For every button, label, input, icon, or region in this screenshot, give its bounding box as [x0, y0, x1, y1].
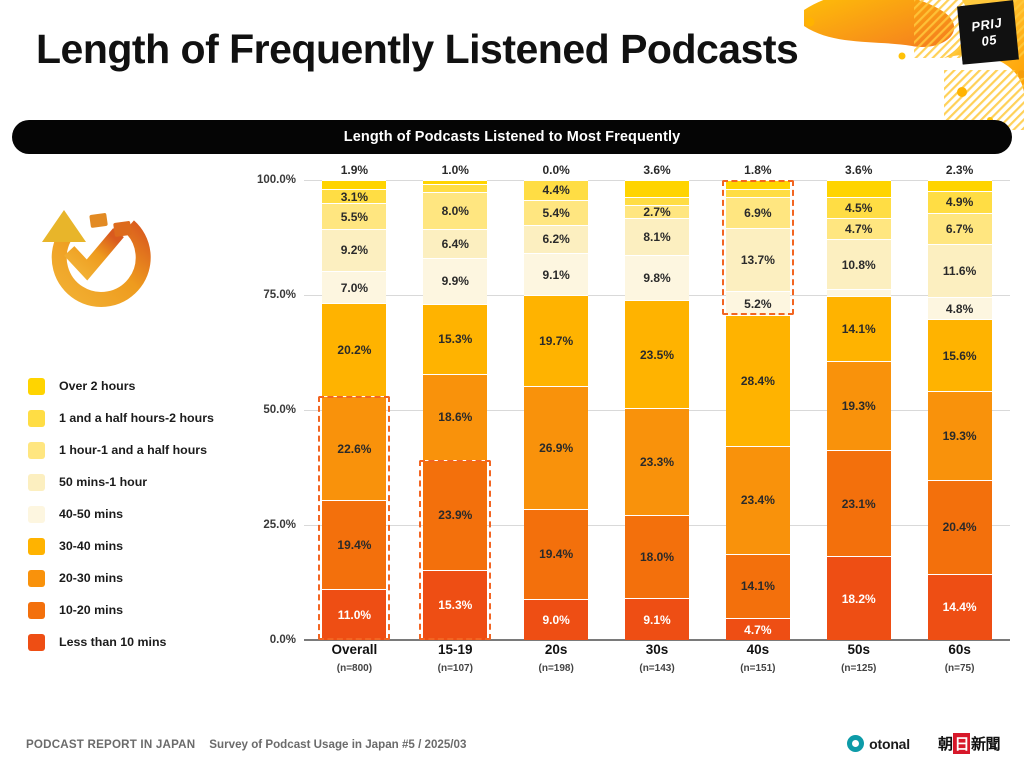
bar-segment[interactable]: 6.2%	[524, 225, 588, 254]
bar-segment[interactable]: 18.6%	[423, 374, 487, 460]
x-tick-label: 60s	[909, 642, 1010, 657]
bar-segment-label: 8.1%	[643, 231, 670, 243]
bar-segment[interactable]: 5.5%	[322, 203, 386, 228]
x-tick-group: 60s(n=75)	[909, 642, 1010, 674]
bar-segment-label: 14.1%	[842, 323, 876, 335]
bar-segment-label: 23.4%	[741, 494, 775, 506]
bar-segment-label: 14.1%	[741, 580, 775, 592]
bar-segment-label: 1.0%	[442, 164, 469, 176]
bar-segment-label: 4.8%	[946, 303, 973, 315]
bar-segment-label: 4.9%	[946, 196, 973, 208]
x-tick-group: 30s(n=143)	[607, 642, 708, 674]
legend-item-label: 30-40 mins	[59, 539, 123, 553]
bar-segment-label: 2.3%	[946, 164, 973, 176]
bar-segment-label: 15.3%	[438, 333, 472, 345]
bar-segment-label: 5.4%	[542, 207, 569, 219]
x-tick-label: 40s	[707, 642, 808, 657]
bar-segment[interactable]: 4.5%	[827, 197, 891, 218]
bar-segment-label: 2.7%	[643, 206, 670, 218]
x-tick-label: 30s	[607, 642, 708, 657]
bar-segment[interactable]: 4.8%	[928, 297, 992, 319]
x-tick-label: 50s	[808, 642, 909, 657]
bar-segment-label: 14.4%	[943, 601, 977, 613]
bar-segment[interactable]: 10.8%	[827, 239, 891, 289]
bar-segment[interactable]: 8.0%	[423, 192, 487, 229]
bar-segment[interactable]: 23.5%	[625, 300, 689, 408]
bar-segment[interactable]: 19.3%	[928, 391, 992, 480]
bar-segment-label: 28.4%	[741, 375, 775, 387]
bar-segment-label: 23.5%	[640, 349, 674, 361]
footer-text-group: PODCAST REPORT IN JAPAN Survey of Podcas…	[26, 738, 466, 751]
bar-segment[interactable]: 20.4%	[928, 480, 992, 574]
bar-segment-label: 26.9%	[539, 442, 573, 454]
x-tick-sample-size: (n=198)	[506, 663, 607, 674]
bar-segment-label: 6.9%	[744, 207, 771, 219]
x-tick-label: Overall	[304, 642, 405, 657]
bar-segment[interactable]: 3.1%	[322, 189, 386, 203]
footer-subtitle: Survey of Podcast Usage in Japan #5 / 20…	[209, 738, 466, 751]
prij-badge: PRIJ 05	[954, 0, 1023, 68]
bar-segment[interactable]: 9.1%	[625, 598, 689, 640]
x-tick-group: 20s(n=198)	[506, 642, 607, 674]
bar-segment-label: 23.9%	[438, 509, 472, 521]
prij-badge-line2: 05	[980, 32, 998, 50]
bar-segment-label: 0.0%	[542, 164, 569, 176]
x-tick-label: 15-19	[405, 642, 506, 657]
stacked-bar: 15.3%23.9%18.6%15.3%9.9%6.4%8.0%1.0%	[423, 180, 487, 640]
x-tick-group: 40s(n=151)	[707, 642, 808, 674]
bar-segment[interactable]: 6.7%	[928, 213, 992, 244]
bar-segment-label: 3.6%	[845, 164, 872, 176]
x-tick-sample-size: (n=800)	[304, 663, 405, 674]
y-tick-label: 25.0%	[263, 519, 296, 531]
bar-column-60s[interactable]: 14.4%20.4%19.3%15.6%4.8%11.6%6.7%4.9%2.3…	[909, 180, 1010, 640]
bar-segment[interactable]: 14.1%	[827, 296, 891, 361]
bar-segment[interactable]: 19.7%	[524, 295, 588, 386]
bar-segment[interactable]: 14.1%	[726, 554, 790, 619]
bar-column-overall[interactable]: 11.0%19.4%22.6%20.2%7.0%9.2%5.5%3.1%1.9%	[304, 180, 405, 640]
bar-segment-label: 9.9%	[442, 275, 469, 287]
bar-segment-label: 4.7%	[845, 223, 872, 235]
bar-segment[interactable]: 15.3%	[423, 570, 487, 640]
x-tick-label: 20s	[506, 642, 607, 657]
bar-segment[interactable]: 23.1%	[827, 450, 891, 556]
bar-segment[interactable]: 4.7%	[827, 218, 891, 240]
bar-segment[interactable]: 13.7%	[726, 228, 790, 291]
asahi-shimbun-logo: 朝 日 新聞	[938, 733, 1000, 754]
legend-item-5[interactable]: 30-40 mins	[28, 530, 258, 562]
bar-segment[interactable]: 19.3%	[827, 361, 891, 450]
bar-segment-label: 6.7%	[946, 223, 973, 235]
bar-segment[interactable]: 6.9%	[726, 197, 790, 229]
asahi-char-red: 日	[953, 733, 970, 754]
bar-segment[interactable]	[625, 180, 689, 197]
bar-segment-label: 23.3%	[640, 456, 674, 468]
decorative-splash: PRIJ 05	[794, 0, 1024, 130]
bar-segment-label: 19.7%	[539, 335, 573, 347]
y-tick-label: 0.0%	[270, 634, 296, 646]
bar-segment-label: 19.3%	[943, 430, 977, 442]
bar-segment-label: 3.6%	[643, 164, 670, 176]
bar-segment-label: 8.0%	[442, 205, 469, 217]
legend-item-label: Less than 10 mins	[59, 635, 166, 649]
legend-item-label: 1 hour-1 and a half hours	[59, 443, 207, 457]
bar-segment-label: 18.2%	[842, 593, 876, 605]
bar-segment-label: 22.6%	[337, 443, 371, 455]
bar-column-30s[interactable]: 9.1%18.0%23.3%23.5%9.8%8.1%2.7%3.6%	[607, 180, 708, 640]
bar-segment[interactable]	[827, 180, 891, 197]
bar-segment-label: 7.0%	[341, 282, 368, 294]
bar-segment[interactable]: 9.0%	[524, 599, 588, 640]
footer-logos: otonal 朝 日 新聞	[847, 733, 1000, 754]
bar-segment[interactable]: 26.9%	[524, 386, 588, 510]
x-axis-labels: Overall(n=800)15-19(n=107)20s(n=198)30s(…	[304, 642, 1010, 674]
bar-segment[interactable]: 11.0%	[322, 589, 386, 640]
legend-swatch-icon	[28, 570, 45, 587]
legend-item-label: 50 mins-1 hour	[59, 475, 147, 489]
x-tick-group: Overall(n=800)	[304, 642, 405, 674]
page-title: Length of Frequently Listened Podcasts	[36, 26, 798, 73]
chart-title-banner: Length of Podcasts Listened to Most Freq…	[12, 120, 1012, 154]
prij-badge-line1: PRIJ	[970, 15, 1003, 36]
chart-legend: Over 2 hours1 and a half hours-2 hours1 …	[28, 370, 258, 658]
bar-segment-label: 3.1%	[341, 191, 368, 203]
bar-segment[interactable]	[827, 289, 891, 296]
bar-segment-label: 19.4%	[337, 539, 371, 551]
legend-item-2[interactable]: 1 hour-1 and a half hours	[28, 434, 258, 466]
bar-segment[interactable]: 22.6%	[322, 396, 386, 500]
bar-segment[interactable]	[726, 189, 790, 197]
stacked-bar: 14.4%20.4%19.3%15.6%4.8%11.6%6.7%4.9%2.3…	[928, 180, 992, 640]
x-tick-sample-size: (n=143)	[607, 663, 708, 674]
bar-column-15-19[interactable]: 15.3%23.9%18.6%15.3%9.9%6.4%8.0%1.0%	[405, 180, 506, 640]
legend-swatch-icon	[28, 538, 45, 555]
stacked-bar: 18.2%23.1%19.3%14.1%10.8%4.7%4.5%3.6%	[827, 180, 891, 640]
bar-segment-label: 19.4%	[539, 548, 573, 560]
asahi-char-1: 朝	[938, 733, 953, 754]
x-tick-sample-size: (n=151)	[707, 663, 808, 674]
x-tick-sample-size: (n=125)	[808, 663, 909, 674]
bar-segment[interactable]: 20.2%	[322, 303, 386, 396]
legend-swatch-icon	[28, 474, 45, 491]
y-tick-label: 100.0%	[257, 174, 296, 186]
bar-segment-label: 15.3%	[438, 599, 472, 611]
legend-item-label: 1 and a half hours-2 hours	[59, 411, 214, 425]
bar-segment[interactable]: 6.4%	[423, 229, 487, 258]
bar-segment-label: 6.2%	[542, 233, 569, 245]
bar-segment[interactable]: 5.2%	[726, 291, 790, 315]
bar-segment-label: 1.9%	[341, 164, 368, 176]
bar-segment-label: 18.6%	[438, 411, 472, 423]
legend-swatch-icon	[28, 410, 45, 427]
legend-item-8[interactable]: Less than 10 mins	[28, 626, 258, 658]
bar-segment[interactable]: 9.9%	[423, 258, 487, 304]
bar-segment[interactable]	[423, 180, 487, 185]
bar-segment[interactable]: 19.4%	[524, 509, 588, 598]
bar-segment[interactable]: 2.7%	[625, 205, 689, 217]
legend-item-3[interactable]: 50 mins-1 hour	[28, 466, 258, 498]
bar-column-50s[interactable]: 18.2%23.1%19.3%14.1%10.8%4.7%4.5%3.6%	[808, 180, 909, 640]
bar-segment[interactable]: 4.9%	[928, 191, 992, 214]
bar-segment[interactable]	[928, 180, 992, 191]
bar-segment[interactable]	[524, 179, 588, 180]
clock-arrow-check-icon	[34, 198, 154, 316]
x-tick-sample-size: (n=107)	[405, 663, 506, 674]
bar-segment[interactable]: 4.7%	[726, 618, 790, 640]
legend-swatch-icon	[28, 602, 45, 619]
bar-segment[interactable]: 7.0%	[322, 271, 386, 303]
bar-segment-label: 20.2%	[337, 344, 371, 356]
bar-segment-label: 4.5%	[845, 202, 872, 214]
bar-segment[interactable]: 11.6%	[928, 244, 992, 297]
bar-segment[interactable]: 18.2%	[827, 556, 891, 640]
bar-segment-label: 11.6%	[943, 265, 976, 277]
bar-segment-label: 4.7%	[744, 624, 771, 636]
bar-segment-label: 9.2%	[341, 244, 368, 256]
y-tick-label: 75.0%	[263, 289, 296, 301]
y-tick-label: 50.0%	[263, 404, 296, 416]
bar-group: 11.0%19.4%22.6%20.2%7.0%9.2%5.5%3.1%1.9%…	[304, 180, 1010, 640]
bar-segment[interactable]: 9.8%	[625, 255, 689, 300]
x-tick-sample-size: (n=75)	[909, 663, 1010, 674]
legend-swatch-icon	[28, 634, 45, 651]
slide-root: PRIJ 05 Length of Frequently Listened Po…	[0, 0, 1024, 768]
asahi-char-2: 新聞	[971, 733, 1000, 754]
bar-segment-label: 6.4%	[442, 238, 469, 250]
bar-segment-label: 23.1%	[842, 498, 876, 510]
bar-segment[interactable]: 23.9%	[423, 460, 487, 570]
bar-segment[interactable]: 5.4%	[524, 200, 588, 225]
bar-segment[interactable]	[625, 197, 689, 205]
bar-segment[interactable]: 28.4%	[726, 315, 790, 446]
bar-segment-label: 5.5%	[341, 211, 368, 223]
bar-segment[interactable]: 14.4%	[928, 574, 992, 640]
chart-title: Length of Podcasts Listened to Most Freq…	[344, 129, 681, 145]
bar-segment[interactable]: 18.0%	[625, 515, 689, 598]
bar-segment[interactable]: 15.6%	[928, 319, 992, 391]
bar-segment[interactable]	[322, 180, 386, 189]
bar-segment-label: 20.4%	[943, 521, 977, 533]
bar-segment[interactable]	[423, 184, 487, 192]
legend-item-6[interactable]: 20-30 mins	[28, 562, 258, 594]
bar-segment-label: 9.1%	[643, 614, 670, 626]
legend-swatch-icon	[28, 378, 45, 395]
legend-item-1[interactable]: 1 and a half hours-2 hours	[28, 402, 258, 434]
bar-segment[interactable]: 19.4%	[322, 500, 386, 589]
legend-item-4[interactable]: 40-50 mins	[28, 498, 258, 530]
bar-column-20s[interactable]: 9.0%19.4%26.9%19.7%9.1%6.2%5.4%4.4%0.0%	[506, 180, 607, 640]
legend-item-label: Over 2 hours	[59, 379, 135, 393]
legend-item-label: 20-30 mins	[59, 571, 123, 585]
bar-segment[interactable]	[726, 180, 790, 188]
otonal-logo-text: otonal	[869, 736, 910, 752]
stacked-bar: 4.7%14.1%23.4%28.4%5.2%13.7%6.9%1.8%	[726, 180, 790, 640]
bar-segment[interactable]: 23.3%	[625, 408, 689, 515]
legend-swatch-icon	[28, 442, 45, 459]
bar-segment-label: 9.0%	[542, 614, 569, 626]
bar-segment[interactable]: 8.1%	[625, 218, 689, 255]
otonal-mark-icon	[847, 735, 864, 752]
bar-column-40s[interactable]: 4.7%14.1%23.4%28.4%5.2%13.7%6.9%1.8%	[707, 180, 808, 640]
bar-segment[interactable]: 9.2%	[322, 229, 386, 271]
bar-segment-label: 18.0%	[640, 551, 674, 563]
legend-item-7[interactable]: 10-20 mins	[28, 594, 258, 626]
legend-swatch-icon	[28, 506, 45, 523]
bar-segment-label: 1.8%	[744, 164, 771, 176]
x-tick-group: 50s(n=125)	[808, 642, 909, 674]
bar-segment[interactable]: 4.4%	[524, 180, 588, 200]
bar-segment-label: 13.7%	[741, 254, 775, 266]
bar-segment-label: 19.3%	[842, 400, 876, 412]
y-axis-labels: 0.0%25.0%50.0%75.0%100.0%	[250, 180, 302, 640]
bar-segment-label: 9.8%	[643, 272, 670, 284]
bar-segment-label: 5.2%	[744, 298, 771, 310]
bar-segment-label: 4.4%	[542, 184, 569, 196]
bar-segment-label: 15.6%	[943, 350, 977, 362]
legend-item-0[interactable]: Over 2 hours	[28, 370, 258, 402]
x-tick-group: 15-19(n=107)	[405, 642, 506, 674]
stacked-bar: 9.0%19.4%26.9%19.7%9.1%6.2%5.4%4.4%0.0%	[524, 180, 588, 640]
chart-plot-area: 0.0%25.0%50.0%75.0%100.0% 11.0%19.4%22.6…	[250, 180, 1010, 680]
stacked-bar: 11.0%19.4%22.6%20.2%7.0%9.2%5.5%3.1%1.9%	[322, 180, 386, 640]
bar-segment[interactable]: 9.1%	[524, 253, 588, 295]
legend-item-label: 40-50 mins	[59, 507, 123, 521]
bar-segment-label: 11.0%	[338, 609, 371, 621]
otonal-logo: otonal	[847, 735, 910, 752]
footer: PODCAST REPORT IN JAPAN Survey of Podcas…	[0, 724, 1024, 768]
bar-segment-label: 10.8%	[842, 259, 876, 271]
bar-segment[interactable]: 23.4%	[726, 446, 790, 554]
bar-segment[interactable]: 15.3%	[423, 304, 487, 374]
stacked-bar: 9.1%18.0%23.3%23.5%9.8%8.1%2.7%3.6%	[625, 180, 689, 640]
legend-item-label: 10-20 mins	[59, 603, 123, 617]
footer-brand: PODCAST REPORT IN JAPAN	[26, 738, 195, 751]
bar-segment-label: 9.1%	[542, 269, 569, 281]
